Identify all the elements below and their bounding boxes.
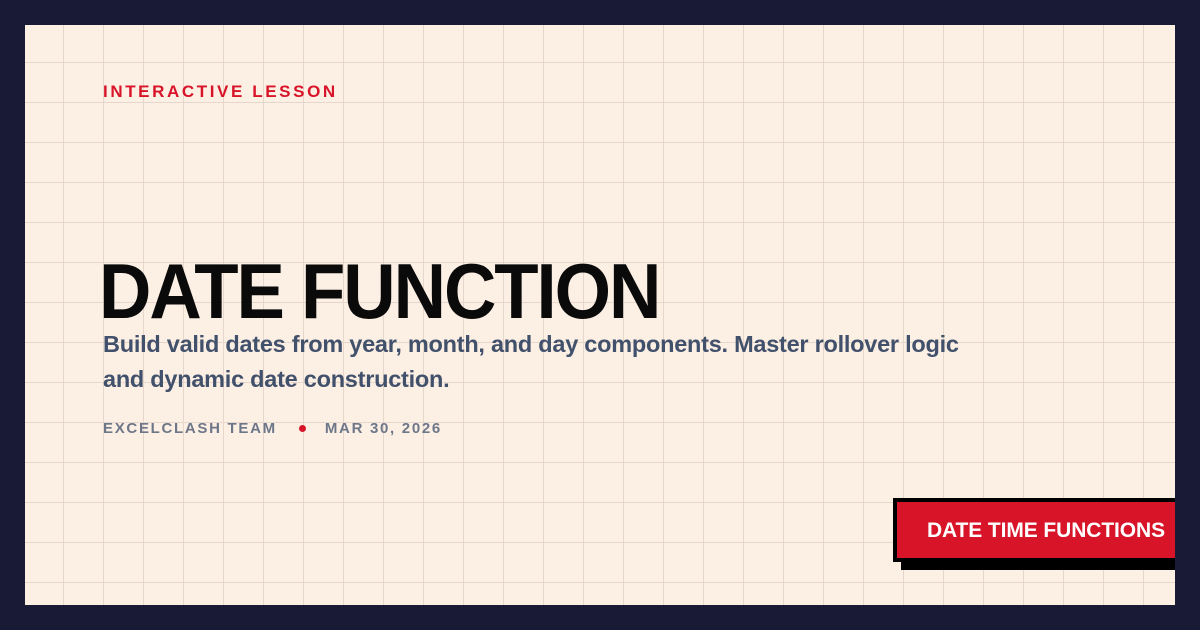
category-badge-wrapper: DATE TIME FUNCTIONS bbox=[868, 485, 1175, 555]
category-badge-button[interactable]: DATE TIME FUNCTIONS bbox=[893, 498, 1175, 562]
eyebrow-label: INTERACTIVE LESSON bbox=[103, 83, 338, 100]
category-badge-label: DATE TIME FUNCTIONS bbox=[927, 520, 1165, 541]
byline: EXCELCLASH TEAM MAR 30, 2026 bbox=[103, 421, 442, 436]
lesson-hero-card: INTERACTIVE LESSON DATE FUNCTION Build v… bbox=[0, 0, 1200, 630]
page-title: DATE FUNCTION bbox=[99, 252, 659, 330]
hero-description: Build valid dates from year, month, and … bbox=[103, 327, 1003, 398]
red-dot-separator-icon bbox=[299, 425, 306, 432]
byline-author: EXCELCLASH TEAM bbox=[103, 421, 277, 436]
hero-content: INTERACTIVE LESSON DATE FUNCTION Build v… bbox=[103, 25, 1097, 605]
hero-panel: INTERACTIVE LESSON DATE FUNCTION Build v… bbox=[25, 25, 1175, 605]
byline-date: MAR 30, 2026 bbox=[325, 421, 442, 436]
